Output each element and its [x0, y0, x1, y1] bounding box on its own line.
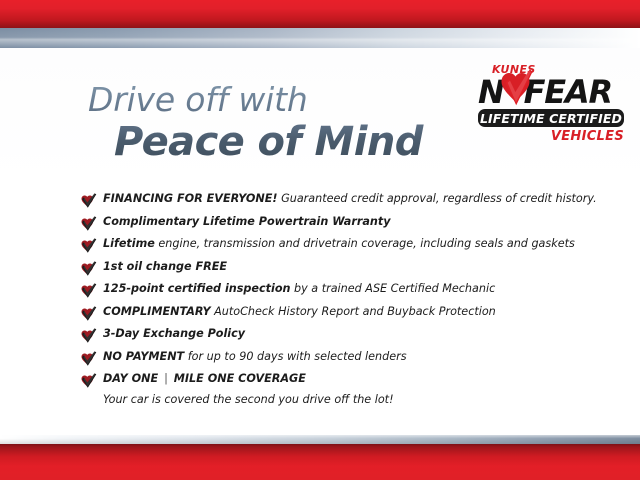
benefit-item: FINANCING FOR EVERYONE! Guaranteed credi…: [80, 191, 580, 208]
benefit-text-regular: Guaranteed credit approval, regardless o…: [278, 192, 597, 205]
benefit-text: 125-point certified inspection by a trai…: [103, 281, 495, 296]
benefit-text: 3-Day Exchange Policy: [103, 326, 245, 341]
benefit-text-regular: for up to 90 days with selected lenders: [184, 350, 406, 363]
heart-check-icon: [499, 68, 533, 106]
benefit-row: Lifetime engine, transmission and drivet…: [80, 236, 580, 253]
benefit-row: 125-point certified inspection by a trai…: [80, 281, 580, 298]
heart-check-bullet-icon: [80, 283, 97, 298]
benefit-text: 1st oil change FREE: [103, 259, 227, 274]
logo-word-fear: FEAR: [524, 73, 612, 111]
headline-line-2: Peace of Mind: [114, 120, 468, 164]
heart-check-bullet-icon: [80, 351, 97, 366]
heart-check-bullet-icon: [80, 306, 97, 321]
heart-check-bullet-icon: [80, 238, 97, 253]
benefit-subtext: Your car is covered the second you drive…: [103, 392, 580, 408]
heart-check-bullet-icon: [80, 328, 97, 343]
heart-check-bullet-icon: [80, 351, 97, 366]
content-stage: Drive off with Peace of Mind KUNES NFEAR…: [0, 48, 640, 445]
benefit-text: NO PAYMENT for up to 90 days with select…: [103, 349, 407, 364]
benefit-text-bold: 1st oil change FREE: [103, 260, 227, 273]
benefit-row: 3-Day Exchange Policy: [80, 326, 580, 343]
bottom-gray-band-highlight: [0, 435, 640, 444]
benefit-text-bold: 3-Day Exchange Policy: [103, 327, 245, 340]
benefit-row: Complimentary Lifetime Powertrain Warran…: [80, 214, 580, 231]
heart-check-bullet-icon: [80, 216, 97, 231]
benefit-text: FINANCING FOR EVERYONE! Guaranteed credi…: [103, 191, 597, 206]
benefit-text-regular: engine, transmission and drivetrain cove…: [155, 237, 575, 250]
benefit-item: 1st oil change FREE: [80, 259, 580, 276]
benefit-text-regular: by a trained ASE Certified Mechanic: [290, 282, 495, 295]
benefit-divider: |: [162, 372, 170, 385]
promo-banner: Drive off with Peace of Mind KUNES NFEAR…: [0, 0, 640, 480]
benefit-text: DAY ONE | MILE ONE COVERAGE: [103, 371, 306, 386]
benefit-item: 3-Day Exchange Policy: [80, 326, 580, 343]
heart-check-bullet-icon: [80, 261, 97, 276]
logo-vehicles-text: VEHICLES: [478, 130, 624, 144]
benefit-row: DAY ONE | MILE ONE COVERAGE: [80, 371, 580, 388]
benefit-text-bold: DAY ONE | MILE ONE COVERAGE: [103, 372, 306, 385]
benefit-item: NO PAYMENT for up to 90 days with select…: [80, 349, 580, 366]
heart-check-bullet-icon: [80, 373, 97, 388]
heart-check-bullet-icon: [80, 238, 97, 253]
benefit-row: COMPLIMENTARY AutoCheck History Report a…: [80, 304, 580, 321]
heart-check-bullet-icon: [80, 306, 97, 321]
benefit-text-bold: COMPLIMENTARY: [103, 305, 211, 318]
bottom-red-band: [0, 444, 640, 480]
top-red-band: [0, 0, 640, 28]
logo-bar-text: LIFETIME CERTIFIED: [480, 111, 622, 126]
logo-wordmark: NFEAR: [478, 76, 628, 108]
heart-check-bullet-icon: [80, 193, 97, 208]
benefit-text-bold: NO PAYMENT: [103, 350, 184, 363]
heart-check-bullet-icon: [80, 216, 97, 231]
headline-line-1: Drive off with: [88, 82, 468, 118]
benefit-text-regular: AutoCheck History Report and Buyback Pro…: [211, 305, 496, 318]
benefit-text-bold: Complimentary Lifetime Powertrain Warran…: [103, 215, 391, 228]
kunes-no-fear-logo: KUNES NFEAR LIFETIME CERTIFIED VEHICLES: [478, 64, 628, 144]
benefit-text-bold: FINANCING FOR EVERYONE!: [103, 192, 278, 205]
heart-check-bullet-icon: [80, 373, 97, 388]
logo-lifetime-certified-bar: LIFETIME CERTIFIED: [478, 109, 624, 127]
benefit-item: Complimentary Lifetime Powertrain Warran…: [80, 214, 580, 231]
benefit-item: COMPLIMENTARY AutoCheck History Report a…: [80, 304, 580, 321]
heart-check-bullet-icon: [80, 193, 97, 208]
heart-check-bullet-icon: [80, 328, 97, 343]
benefit-text: COMPLIMENTARY AutoCheck History Report a…: [103, 304, 496, 319]
benefit-text: Complimentary Lifetime Powertrain Warran…: [103, 214, 391, 229]
benefit-text-bold: 125-point certified inspection: [103, 282, 290, 295]
benefits-list: FINANCING FOR EVERYONE! Guaranteed credi…: [80, 191, 580, 408]
top-gray-band-highlight: [0, 28, 640, 48]
benefit-item: DAY ONE | MILE ONE COVERAGEYour car is c…: [80, 371, 580, 408]
headline: Drive off with Peace of Mind: [88, 82, 468, 164]
benefit-row: NO PAYMENT for up to 90 days with select…: [80, 349, 580, 366]
benefit-text-bold: Lifetime: [103, 237, 155, 250]
benefit-item: Lifetime engine, transmission and drivet…: [80, 236, 580, 253]
benefit-item: 125-point certified inspection by a trai…: [80, 281, 580, 298]
benefit-row: 1st oil change FREE: [80, 259, 580, 276]
benefit-text: Lifetime engine, transmission and drivet…: [103, 236, 575, 251]
heart-check-bullet-icon: [80, 261, 97, 276]
benefit-row: FINANCING FOR EVERYONE! Guaranteed credi…: [80, 191, 580, 208]
heart-check-bullet-icon: [80, 283, 97, 298]
